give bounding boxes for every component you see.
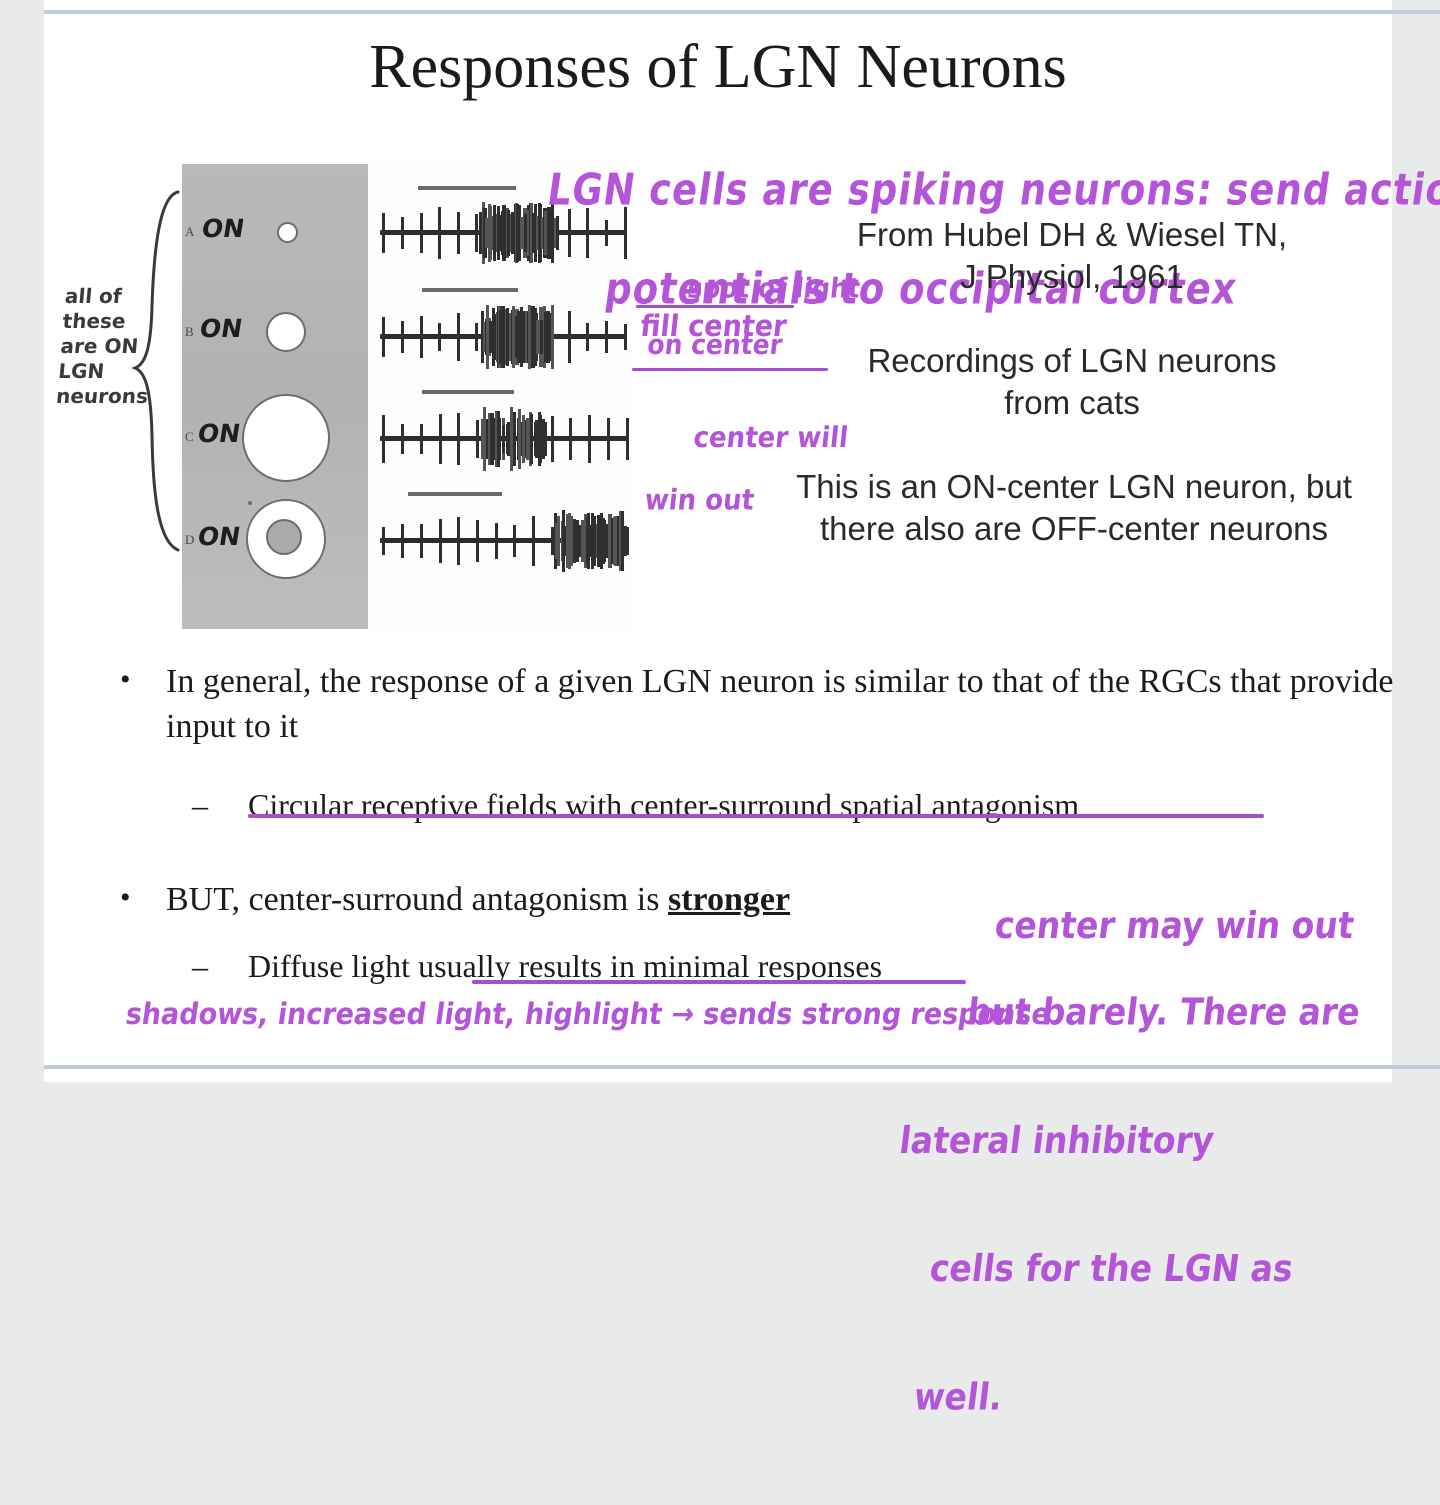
- bullet-marker-4: –: [192, 945, 208, 987]
- bullet-marker-1: •: [120, 660, 131, 700]
- bullet-item-1: • In general, the response of a given LG…: [108, 660, 1408, 750]
- annotation-left-note: all of these are ON LGN neurons: [55, 284, 158, 409]
- on-center-note-line-1: This is an ON-center LGN neuron, but: [744, 466, 1404, 508]
- figure-stimulus-large-spot: [242, 394, 330, 482]
- figure-stimulus-small-spot: [277, 222, 298, 243]
- annotation-right-line3: lateral inhibitory: [897, 1119, 1346, 1162]
- bullet-text-1: In general, the response of a given LGN …: [166, 663, 1394, 745]
- figure-stimulus-medium-spot: [266, 312, 306, 352]
- bullet-text-3-before: BUT, center-surround antagonism is: [166, 881, 668, 918]
- bullet-marker-3: •: [120, 878, 131, 918]
- annotation-underline-on-center: [636, 305, 794, 308]
- citation-block: From Hubel DH & Wiesel TN, J Physiol, 19…: [782, 214, 1362, 298]
- annotation-right-line4: cells for the LGN as: [927, 1248, 1330, 1291]
- figure-on-label-c: ON: [196, 419, 243, 448]
- on-center-note-block: This is an ON-center LGN neuron, but the…: [744, 466, 1404, 550]
- page-title: Responses of LGN Neurons: [44, 32, 1392, 103]
- annotation-fill-center: fill center: [639, 312, 788, 343]
- annotation-right-line5: well.: [912, 1376, 1315, 1419]
- bullet-text-4: Diffuse light usually results in minimal…: [248, 948, 882, 984]
- recordings-block: Recordings of LGN neurons from cats: [782, 340, 1362, 424]
- annotation-right-block: center may win out but barely. There are…: [855, 862, 1378, 1505]
- annotation-bottom-handwriting: shadows, increased light, highlight → se…: [124, 1000, 1052, 1031]
- annotation-underline-diffuse-light: [472, 980, 966, 984]
- citation-line-1: From Hubel DH & Wiesel TN,: [782, 214, 1362, 256]
- annotation-top-line1: LGN cells are spiking neurons: send acti…: [544, 164, 1440, 215]
- page-left-margin: [0, 0, 44, 1082]
- bullet-item-2: – Circular receptive fields with center-…: [108, 784, 1408, 826]
- bullet-marker-2: –: [192, 784, 208, 826]
- annotation-underline-receptive-fields: [248, 814, 1264, 818]
- on-center-note-line-2: there also are OFF-center neurons: [744, 508, 1404, 550]
- recordings-line-1: Recordings of LGN neurons: [782, 340, 1362, 382]
- annotation-right-line1: center may win out: [992, 904, 1356, 948]
- bullet-group-one: • In general, the response of a given LG…: [108, 660, 1408, 826]
- bullet-text-3-emphasis: stronger: [668, 881, 790, 918]
- figure-on-label-d: ON: [196, 522, 243, 551]
- figure-on-label-a: ON: [200, 214, 247, 243]
- annotation-center-line1: center will: [692, 422, 850, 455]
- recordings-line-2: from cats: [782, 382, 1362, 424]
- figure-stim-bar-d: [408, 492, 502, 496]
- citation-line-2: J Physiol, 1961: [782, 256, 1362, 298]
- figure-on-label-b: ON: [198, 314, 245, 343]
- figure-stimulus-annulus: [246, 499, 326, 579]
- slide-page: Responses of LGN Neurons A B C D ON ON O…: [0, 0, 1440, 1082]
